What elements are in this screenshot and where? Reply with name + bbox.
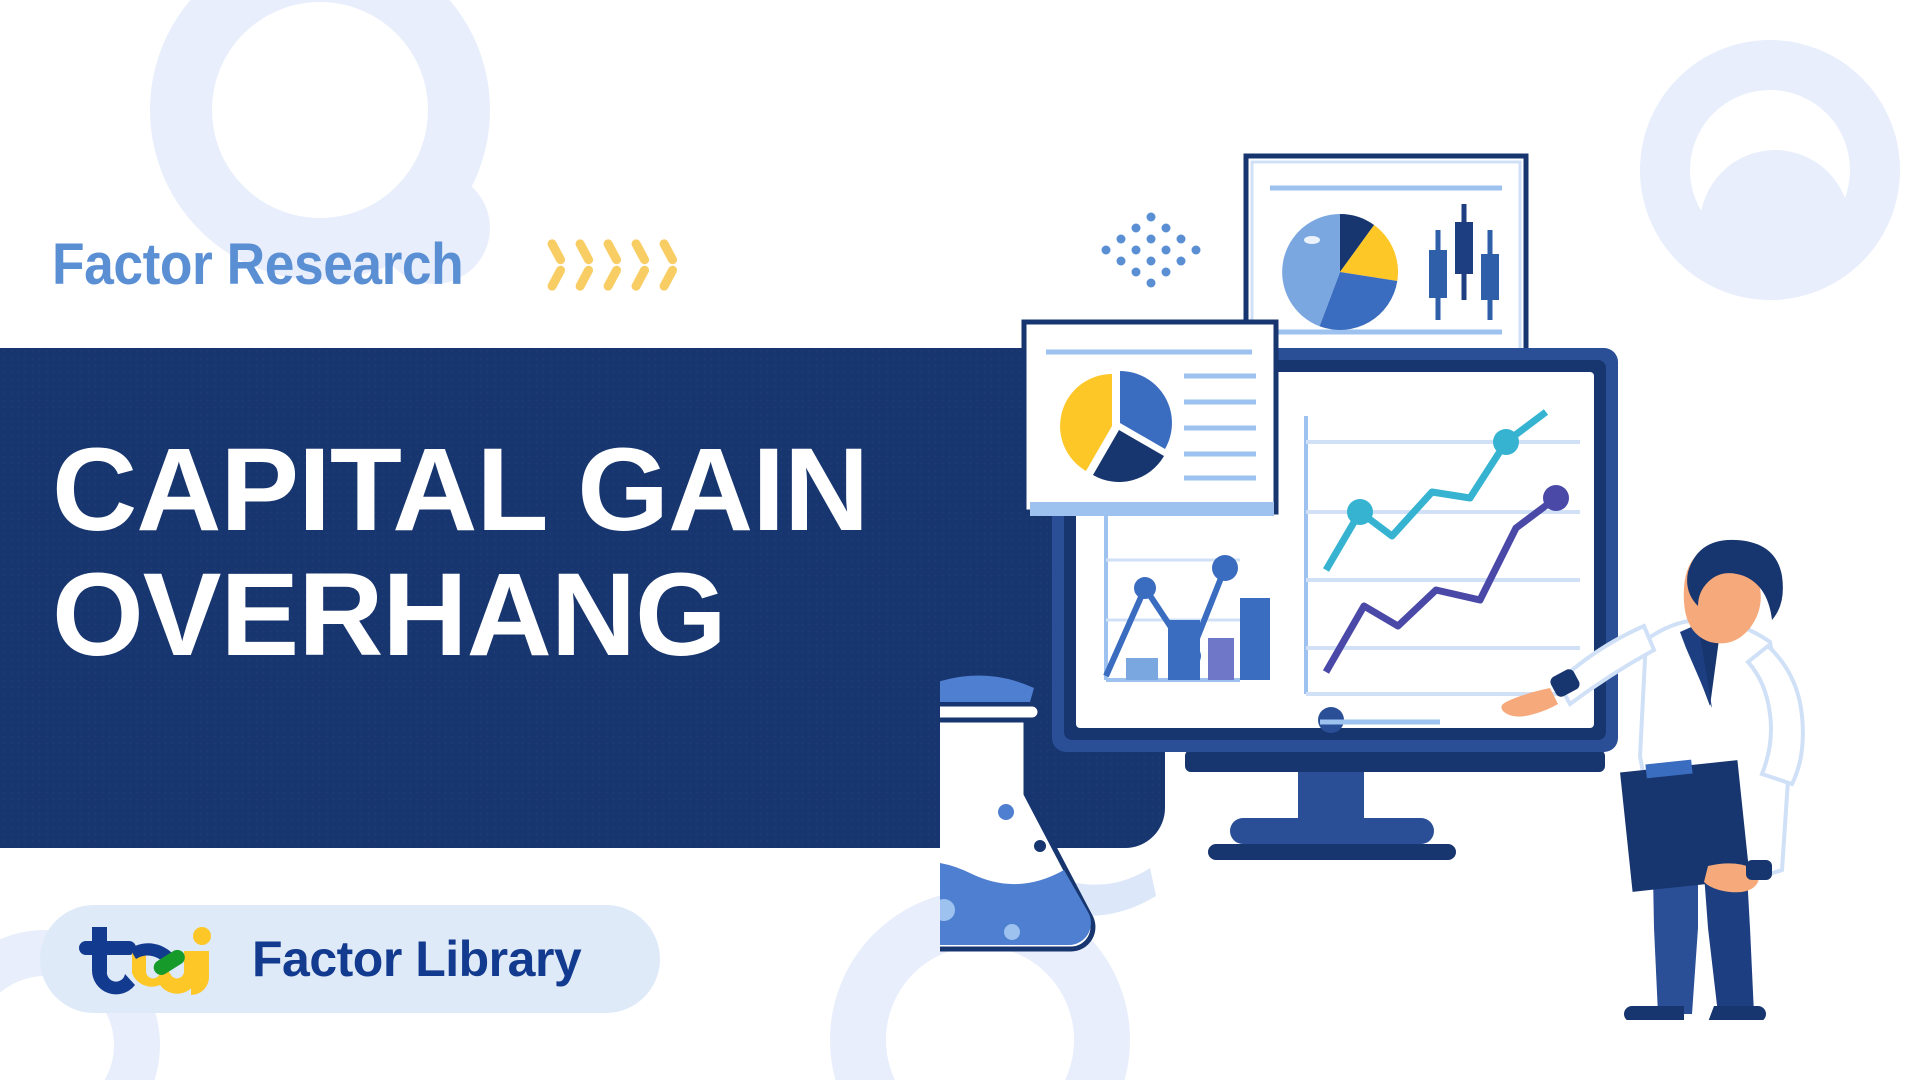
illustration-svg [940, 120, 1920, 1020]
eyebrow-row: Factor Research [52, 236, 681, 294]
chevron-group [543, 242, 681, 288]
chevron-right-icon [599, 242, 625, 288]
page-title: CAPITAL GAIN OVERHANG [52, 428, 1072, 678]
page-title-line-2: OVERHANG [52, 553, 1072, 678]
tej-logo-icon [78, 923, 226, 995]
chevron-right-icon [571, 242, 597, 288]
dot-diamond-accent-icon [1102, 213, 1201, 288]
pie-chart-top [1282, 214, 1398, 330]
brand-name: Factor Library [252, 930, 581, 988]
pie-and-candlestick-card [1246, 156, 1526, 356]
page-title-line-1: CAPITAL GAIN [52, 424, 868, 556]
illustration [940, 120, 1920, 1020]
banner-canvas: Factor Research CAPITAL GAIN OVERHANG [0, 0, 1920, 1080]
eyebrow-label: Factor Research [52, 236, 463, 294]
chevron-right-icon [627, 242, 653, 288]
chevron-right-icon [543, 242, 569, 288]
brand-pill[interactable]: Factor Library [40, 905, 660, 1013]
chevron-right-icon [655, 242, 681, 288]
pie-report-card [1024, 322, 1276, 516]
